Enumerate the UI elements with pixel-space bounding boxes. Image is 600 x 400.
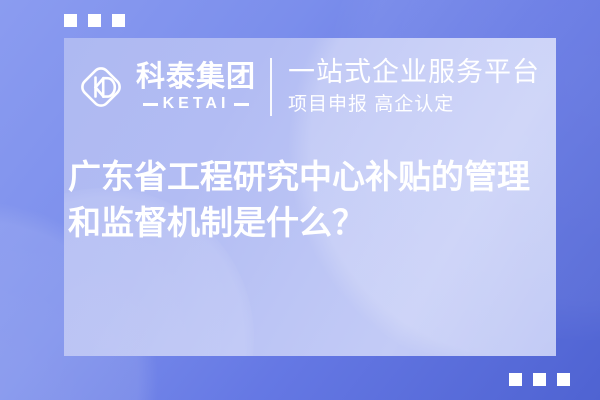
brand-rule-right — [234, 103, 249, 106]
brand-rule-left — [143, 103, 158, 106]
content-card: 科泰集团 KETAI 一站式企业服务平台 项目申报 高企认定 广东省工程研究中心… — [64, 38, 556, 356]
brand-name-cn: 科泰集团 — [136, 63, 256, 92]
slogan-sub: 项目申报 高企认定 — [288, 93, 540, 117]
decor-squares-bottom-right — [509, 373, 570, 386]
decor-square — [557, 373, 570, 386]
promo-banner: 科泰集团 KETAI 一站式企业服务平台 项目申报 高企认定 广东省工程研究中心… — [0, 0, 600, 400]
decor-square — [112, 14, 125, 27]
header-divider — [270, 58, 272, 116]
card-header: 科泰集团 KETAI 一站式企业服务平台 项目申报 高企认定 — [64, 38, 556, 136]
decor-square — [509, 373, 522, 386]
brand-name-en-row: KETAI — [143, 96, 250, 112]
page-title: 广东省工程研究中心补贴的管理和监督机制是什么？ — [68, 154, 554, 245]
slogan-main: 一站式企业服务平台 — [288, 57, 540, 89]
decor-square — [533, 373, 546, 386]
brand-lockup[interactable]: 科泰集团 KETAI — [64, 62, 256, 112]
decor-square — [88, 14, 101, 27]
decor-squares-top-left — [64, 14, 125, 27]
decor-square — [64, 14, 77, 27]
ketai-logo-icon — [76, 62, 126, 112]
brand-name-en: KETAI — [163, 96, 230, 112]
slogan-block: 一站式企业服务平台 项目申报 高企认定 — [288, 57, 540, 117]
brand-text: 科泰集团 KETAI — [136, 63, 256, 112]
